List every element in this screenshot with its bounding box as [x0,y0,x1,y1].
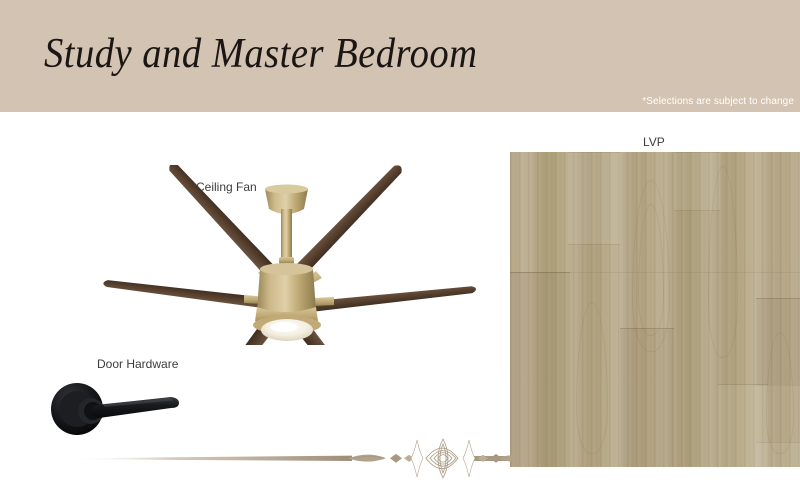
ceiling-fan-illustration [80,165,510,345]
disclaimer-note: *Selections are subject to change [642,96,794,107]
plank-seam [568,244,620,245]
divider-filigree [0,432,520,484]
fan-downrod-collar [279,257,294,264]
header-banner: Study and Master Bedroom *Selections are… [0,0,800,112]
filigree-lines [348,439,520,478]
page-title: Study and Master Bedroom [44,30,478,78]
lvp-flooring-swatch [510,152,800,467]
lvp-label: LVP [643,135,665,149]
ceiling-fan-icon [80,165,510,345]
wood-grain [576,302,608,454]
presentation-slide: Study and Master Bedroom *Selections are… [0,0,800,500]
fan-blade [103,278,279,310]
door-hardware-label: Door Hardware [97,357,178,371]
plank-segment [568,152,620,244]
decorative-divider [0,432,520,484]
fan-downrod [281,209,292,261]
divider-rule [62,456,352,461]
